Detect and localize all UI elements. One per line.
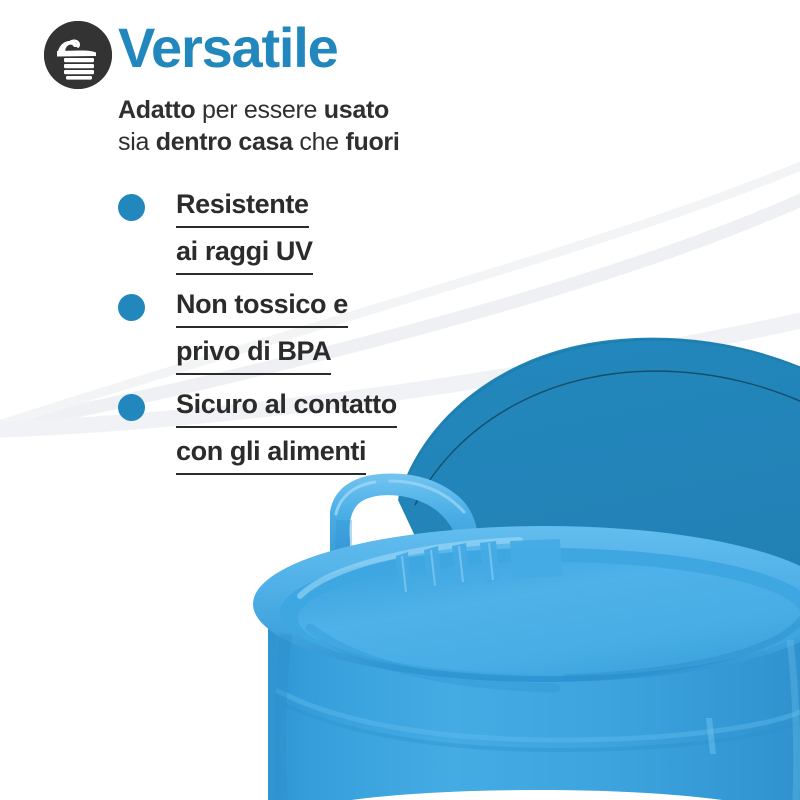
feature-label: Sicuro al contatto con gli alimenti xyxy=(176,384,397,478)
subtitle-strong-dentro-casa: dentro casa xyxy=(156,128,293,156)
feature-line-1: Sicuro al contatto xyxy=(176,384,397,428)
page-title: Versatile xyxy=(118,16,338,80)
bullet-dot-icon xyxy=(118,194,145,221)
feature-label: Non tossico e privo di BPA xyxy=(176,284,348,378)
feature-line-2: ai raggi UV xyxy=(176,231,313,275)
subtitle-line-2: sia dentro casa che fuori xyxy=(118,126,538,158)
page-subtitle: Adatto per essere usato sia dentro casa … xyxy=(118,94,538,158)
feature-line-1: Resistente xyxy=(176,184,309,228)
feature-line-2: con gli alimenti xyxy=(176,431,366,475)
feature-list: Resistente ai raggi UV Non tossico e pri… xyxy=(118,186,538,486)
feature-line-1: Non tossico e xyxy=(176,284,348,328)
feature-item-uv-resistant: Resistente ai raggi UV xyxy=(118,186,538,286)
feature-line-2: privo di BPA xyxy=(176,331,331,375)
subtitle-strong-usato: usato xyxy=(324,96,389,124)
feature-item-non-toxic-bpa-free: Non tossico e privo di BPA xyxy=(118,286,538,386)
bullet-dot-icon xyxy=(118,394,145,421)
subtitle-text-2: sia xyxy=(118,128,156,156)
subtitle-strong-adatto: Adatto xyxy=(118,96,195,124)
subtitle-strong-fuori: fuori xyxy=(345,128,399,156)
subtitle-line-1: Adatto per essere usato xyxy=(118,94,538,126)
promo-infographic-page: Versatile Adatto per essere usato sia de… xyxy=(0,0,800,800)
subtitle-text-1: per essere xyxy=(195,96,323,124)
front-basin xyxy=(253,526,800,800)
bullet-dot-icon xyxy=(118,294,145,321)
feature-label: Resistente ai raggi UV xyxy=(176,184,313,278)
feature-item-food-safe: Sicuro al contatto con gli alimenti xyxy=(118,386,538,486)
subtitle-text-3: che xyxy=(293,128,346,156)
hand-stacking-containers-icon xyxy=(44,21,112,89)
